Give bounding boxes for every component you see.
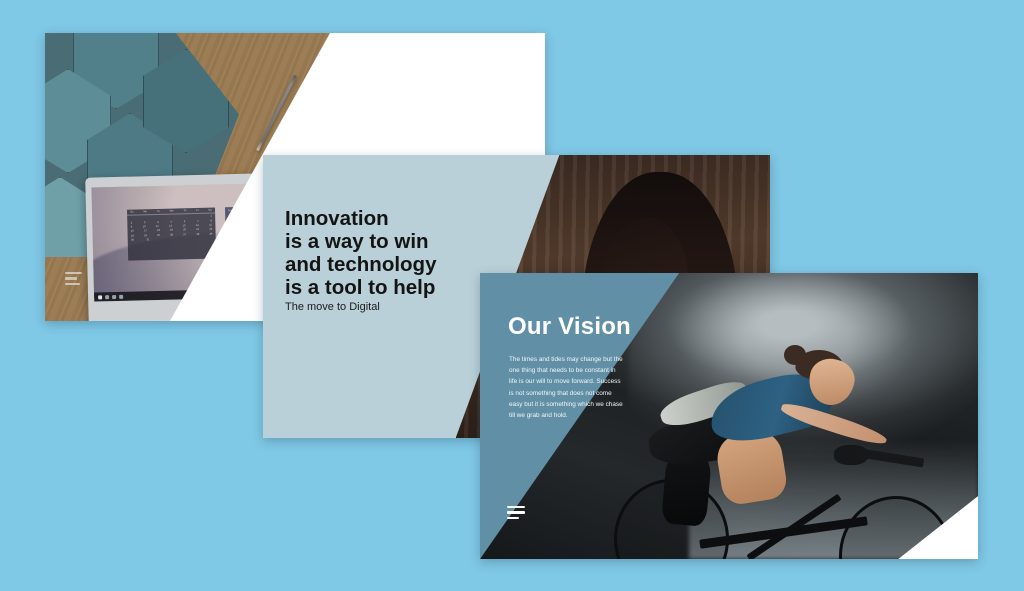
calendar-day: 5 [171,220,173,223]
calendar-day: 22 [209,228,212,231]
calendar-day: 16 [131,230,134,233]
calendar-day: 27 [183,233,186,236]
calendar-day: 30 [131,239,134,242]
calendar-day: 25 [157,234,160,237]
calendar-day: 21 [196,228,199,231]
calendar-day: 26 [170,233,173,236]
calendar-day: 7 [197,220,199,223]
calendar-day: 20 [183,229,186,232]
calendar-day: 23 [131,234,134,237]
calendar-day: 29 [209,232,212,235]
calendar-day: 10 [143,225,146,228]
windows-start-icon [98,295,102,299]
calendar-day: 3 [144,221,146,224]
calendar-day: 1 [210,215,212,218]
calendar-day: 19 [170,229,173,232]
calendar-day: 2 [131,221,133,224]
calendar-day: 4 [157,221,159,224]
search-icon [105,295,109,299]
calendar-day: 18 [157,229,160,232]
app-icon [119,294,123,298]
calendar-day: 15 [209,224,212,227]
calendar-day: 14 [196,224,199,227]
calendar-weekday: We [170,209,174,212]
calendar-weekday: Th [183,209,186,212]
calendar-day: 24 [144,234,147,237]
hamburger-menu-icon[interactable] [507,506,525,520]
slide-subheading: The move to Digital [285,301,380,313]
slide-our-vision[interactable]: Our Vision The times and tides may chang… [480,273,978,559]
calendar-day: 6 [184,220,186,223]
calendar-day: 9 [131,226,133,229]
calendar-weekday: Su [130,210,133,213]
calendar-weekday: Fr [196,209,199,212]
calendar-weekday: Tu [157,210,160,213]
calendar-weekday: Sa [208,208,211,211]
calendar-widget: Su Mo Tu We Th Fr Sa [127,207,216,260]
calendar-weekday: Mo [143,210,147,213]
hamburger-menu-icon[interactable] [65,272,82,286]
presentation-mockup-canvas: Su Mo Tu We Th Fr Sa [0,0,1024,591]
calendar-day: 17 [144,230,147,233]
calendar-day: 11 [156,225,159,228]
calendar-week-row: 30 31 [128,237,215,243]
app-icon [112,294,116,298]
calendar-day: 28 [196,233,199,236]
calendar-day: 31 [147,238,150,241]
calendar-day: 8 [210,219,212,222]
page-title: Our Vision [508,313,631,341]
calendar-day: 13 [182,224,185,227]
body-paragraph: The times and tides may change but the o… [509,354,624,421]
calendar-day: 12 [169,225,172,228]
